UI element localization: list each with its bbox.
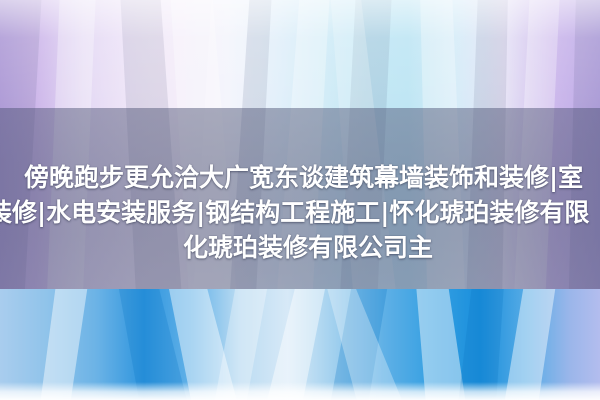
background-top-band <box>0 0 600 108</box>
headline-line-2: 市装修|水电安装服务|钢结构工程施工|怀化琥珀装修有限 <box>0 195 600 230</box>
headline-line-1: 傍晚跑步更允洽大广宽东谈建筑幕墙装饰和装修|室 <box>24 160 600 195</box>
banner-headline: 傍晚跑步更允洽大广宽东谈建筑幕墙装饰和装修|室 市装修|水电安装服务|钢结构工程… <box>0 160 600 265</box>
headline-line-3: 化琥珀装修有限公司主 <box>183 230 600 265</box>
background-bottom-fade <box>0 382 600 400</box>
banner: 傍晚跑步更允洽大广宽东谈建筑幕墙装饰和装修|室 市装修|水电安装服务|钢结构工程… <box>0 0 600 400</box>
